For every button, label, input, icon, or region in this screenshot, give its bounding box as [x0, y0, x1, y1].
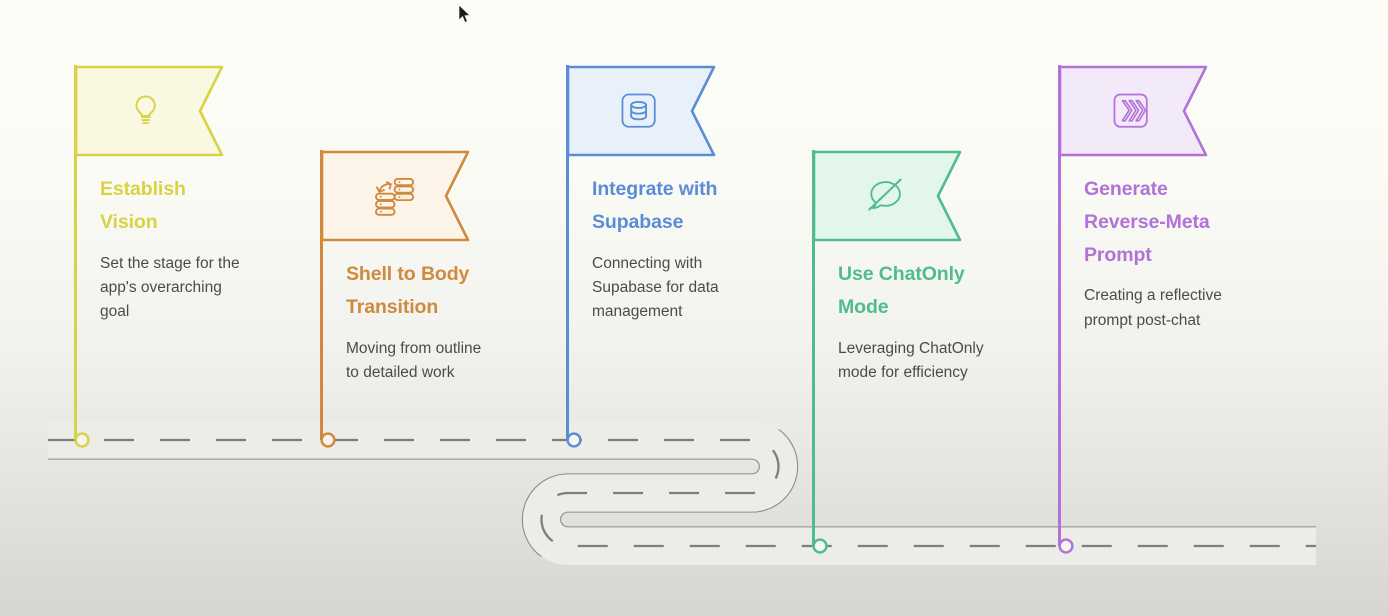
- milestone-flag[interactable]: [568, 65, 716, 157]
- road-center-dashes: [48, 440, 1316, 546]
- milestone-flag[interactable]: [814, 150, 962, 242]
- milestone-marker-generate-reverse-meta-prompt[interactable]: [1060, 540, 1073, 553]
- milestone-description: Set the stage for the app's overarching …: [100, 252, 280, 325]
- milestone-description: Leveraging ChatOnly mode for efficiency: [838, 337, 1018, 386]
- milestone-text-block: Use ChatOnly ModeLeveraging ChatOnly mod…: [838, 258, 1018, 385]
- milestone-title: Generate Reverse-Meta Prompt: [1084, 173, 1264, 271]
- milestone-text-block: Shell to Body TransitionMoving from outl…: [346, 258, 526, 385]
- milestone-marker-establish-vision[interactable]: [76, 434, 89, 447]
- road-edge-outline: [48, 440, 1316, 546]
- milestone-title: Establish Vision: [100, 173, 280, 239]
- roadmap-diagram: Establish VisionSet the stage for the ap…: [0, 0, 1388, 616]
- milestone-marker-integrate-with-supabase[interactable]: [568, 434, 581, 447]
- mouse-pointer-icon: [458, 4, 472, 24]
- milestone-description: Moving from outline to detailed work: [346, 337, 526, 386]
- milestone-title: Use ChatOnly Mode: [838, 258, 1018, 324]
- flag-banner-shape: [814, 152, 960, 240]
- milestone-marker-use-chatonly-mode[interactable]: [814, 540, 827, 553]
- milestone-text-block: Establish VisionSet the stage for the ap…: [100, 173, 280, 325]
- milestone-title: Integrate with Supabase: [592, 173, 772, 239]
- road-surface: [48, 440, 1316, 546]
- milestone-description: Creating a reflective prompt post-chat: [1084, 284, 1264, 333]
- milestone-flag[interactable]: [322, 150, 470, 242]
- milestone-text-block: Integrate with SupabaseConnecting with S…: [592, 173, 772, 325]
- milestone-description: Connecting with Supabase for data manage…: [592, 252, 772, 325]
- flag-banner-shape: [568, 67, 714, 155]
- flag-banner-shape: [1060, 67, 1206, 155]
- flag-banner-shape: [76, 67, 222, 155]
- milestone-flag[interactable]: [76, 65, 224, 157]
- milestone-title: Shell to Body Transition: [346, 258, 526, 324]
- milestone-marker-shell-to-body-transition[interactable]: [322, 434, 335, 447]
- milestone-flag[interactable]: [1060, 65, 1208, 157]
- milestone-text-block: Generate Reverse-Meta PromptCreating a r…: [1084, 173, 1264, 333]
